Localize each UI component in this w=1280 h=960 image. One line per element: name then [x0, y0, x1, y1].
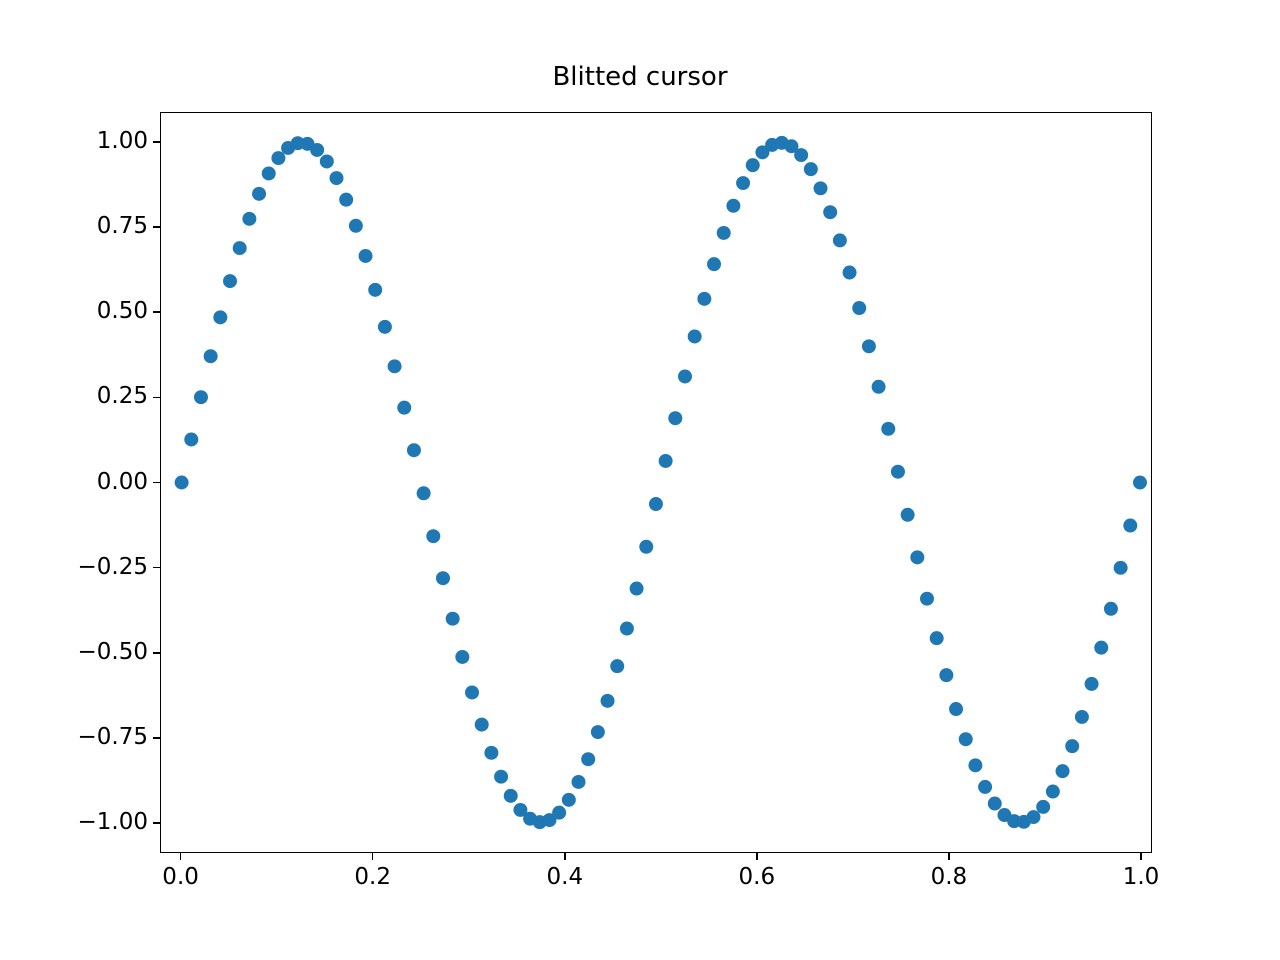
scatter-point [330, 171, 344, 185]
scatter-point [175, 476, 189, 490]
scatter-point [891, 465, 905, 479]
scatter-point [262, 167, 276, 181]
x-tick-label: 0.8 [931, 866, 968, 889]
scatter-point [901, 508, 915, 522]
scatter-point [233, 241, 247, 255]
scatter-point [949, 702, 963, 716]
x-axis-tick-labels: 0.00.20.40.60.81.0 [0, 866, 1280, 906]
scatter-point [610, 659, 624, 673]
scatter-point [833, 233, 847, 247]
y-tick-mark [153, 737, 160, 739]
scatter-point [968, 758, 982, 772]
scatter-point [252, 187, 266, 201]
scatter-point [223, 274, 237, 288]
scatter-point [407, 443, 421, 457]
scatter-point [455, 650, 469, 664]
x-tick-mark [948, 853, 950, 860]
scatter-point [417, 486, 431, 500]
scatter-point [678, 370, 692, 384]
scatter-point [649, 497, 663, 511]
y-tick-mark [153, 482, 160, 484]
scatter-point [862, 339, 876, 353]
scatter-point [436, 571, 450, 585]
scatter-point [504, 789, 518, 803]
scatter-point [630, 582, 644, 596]
scatter-point [368, 283, 382, 297]
scatter-point [1123, 519, 1137, 533]
scatter-point [1056, 764, 1070, 778]
scatter-point [1133, 476, 1147, 490]
scatter-point [339, 193, 353, 207]
x-tick-mark [564, 853, 566, 860]
page-title: Blitted cursor [0, 62, 1280, 92]
scatter-point [688, 330, 702, 344]
scatter-point [959, 732, 973, 746]
scatter-point [707, 257, 721, 271]
scatter-point [920, 592, 934, 606]
scatter-point [697, 292, 711, 306]
x-tick-label: 0.6 [739, 866, 776, 889]
y-tick-mark [153, 226, 160, 228]
scatter-point [426, 529, 440, 543]
y-tick-mark [153, 141, 160, 143]
matplotlib-figure: Blitted cursor −1.00−0.75−0.50−0.250.000… [0, 0, 1280, 960]
scatter-point [388, 359, 402, 373]
x-tick-label: 1.0 [1123, 866, 1160, 889]
scatter-point [601, 694, 615, 708]
scatter-point [804, 162, 818, 176]
scatter-point [620, 622, 634, 636]
scatter-point [736, 176, 750, 190]
scatter-point [378, 320, 392, 334]
y-tick-mark [153, 567, 160, 569]
scatter-point [397, 401, 411, 415]
scatter-point [1075, 710, 1089, 724]
scatter-point [939, 668, 953, 682]
x-tick-label: 0.4 [547, 866, 584, 889]
scatter-point [746, 158, 760, 172]
plot-axes [160, 112, 1152, 853]
y-tick-label: −0.25 [78, 556, 148, 579]
scatter-point [446, 612, 460, 626]
y-tick-label: 0.25 [97, 385, 148, 408]
scatter-series [161, 113, 1151, 852]
x-tick-mark [756, 853, 758, 860]
scatter-point [494, 770, 508, 784]
scatter-point [184, 433, 198, 447]
scatter-point [726, 199, 740, 213]
y-axis-tick-labels: −1.00−0.75−0.50−0.250.000.250.500.751.00 [0, 0, 148, 960]
y-tick-label: 1.00 [97, 130, 148, 153]
scatter-point [1104, 602, 1118, 616]
scatter-point [581, 752, 595, 766]
y-tick-label: 0.50 [97, 300, 148, 323]
scatter-point [1114, 561, 1128, 575]
scatter-point [1085, 677, 1099, 691]
y-tick-label: −0.75 [78, 726, 148, 749]
scatter-point [213, 310, 227, 324]
scatter-point [465, 686, 479, 700]
scatter-points [175, 136, 1147, 829]
scatter-point [910, 550, 924, 564]
scatter-point [572, 775, 586, 789]
scatter-point [320, 154, 334, 168]
y-tick-label: 0.75 [97, 215, 148, 238]
scatter-point [872, 380, 886, 394]
scatter-point [591, 725, 605, 739]
scatter-point [639, 540, 653, 554]
x-tick-mark [180, 853, 182, 860]
scatter-point [794, 148, 808, 162]
scatter-point [562, 793, 576, 807]
scatter-point [823, 205, 837, 219]
scatter-point [843, 266, 857, 280]
scatter-point [852, 301, 866, 315]
x-tick-mark [1140, 853, 1142, 860]
scatter-point [552, 806, 566, 820]
scatter-point [717, 226, 731, 240]
scatter-point [1094, 641, 1108, 655]
scatter-point [1036, 800, 1050, 814]
scatter-point [814, 181, 828, 195]
scatter-point [271, 151, 285, 165]
scatter-point [310, 143, 324, 157]
scatter-point [1027, 810, 1041, 824]
x-tick-mark [372, 853, 374, 860]
y-tick-label: −1.00 [78, 811, 148, 834]
scatter-point [930, 631, 944, 645]
x-tick-label: 0.2 [354, 866, 391, 889]
y-tick-label: −0.50 [78, 641, 148, 664]
y-tick-mark [153, 652, 160, 654]
scatter-point [1046, 785, 1060, 799]
scatter-point [1065, 739, 1079, 753]
y-tick-mark [153, 311, 160, 313]
scatter-point [242, 212, 256, 226]
scatter-point [881, 422, 895, 436]
scatter-point [668, 411, 682, 425]
scatter-point [659, 454, 673, 468]
scatter-point [484, 746, 498, 760]
scatter-point [475, 718, 489, 732]
scatter-point [359, 249, 373, 263]
scatter-point [978, 780, 992, 794]
y-tick-mark [153, 822, 160, 824]
scatter-point [988, 797, 1002, 811]
scatter-point [349, 219, 363, 233]
y-tick-label: 0.00 [97, 471, 148, 494]
x-tick-label: 0.0 [162, 866, 199, 889]
scatter-point [194, 390, 208, 404]
y-tick-mark [153, 397, 160, 399]
scatter-point [204, 349, 218, 363]
